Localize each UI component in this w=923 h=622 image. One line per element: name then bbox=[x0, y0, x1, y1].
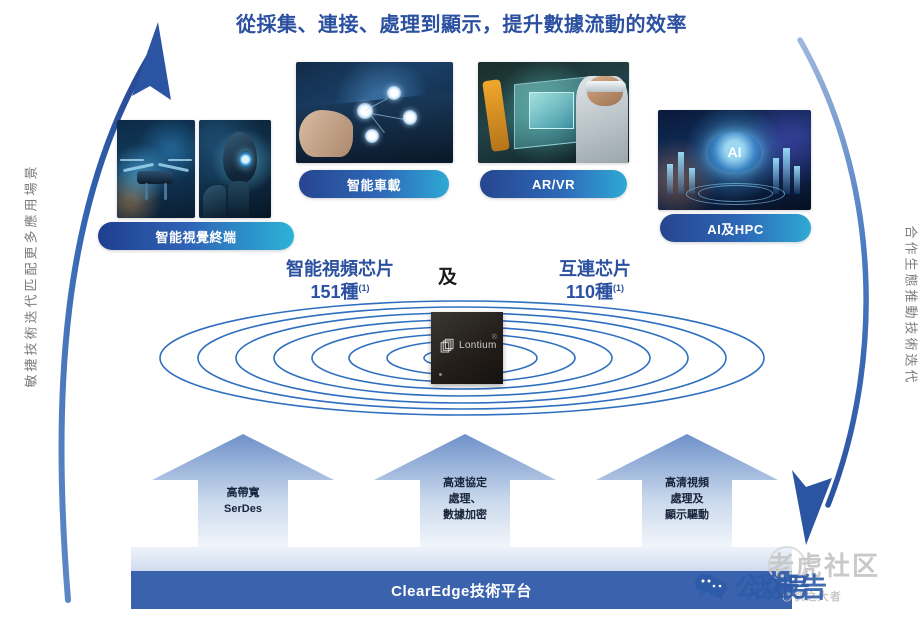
capability-label: 高速協定 處理、 數據加密 bbox=[372, 476, 558, 524]
chip-brand-label: Lontium bbox=[459, 340, 497, 351]
drone-photo bbox=[117, 120, 195, 218]
scenario-pill-vision-terminal[interactable]: 智能視覺終端 bbox=[98, 222, 294, 250]
scenario-pill-label: AI及HPC bbox=[707, 219, 763, 238]
capability-arrow-serdes: 高帶寬 SerDes bbox=[150, 432, 336, 548]
capability-label: 高帶寬 SerDes bbox=[150, 486, 336, 518]
capability-label: 高清視頻 處理及 顯示驅動 bbox=[594, 476, 780, 524]
scenario-pill-label: 智能車載 bbox=[347, 175, 401, 194]
scenario-pill-ar-vr[interactable]: AR/VR bbox=[480, 170, 627, 198]
watermark-account-name: 活报告 bbox=[746, 566, 827, 605]
scenario-pill-label: AR/VR bbox=[532, 177, 575, 192]
ai-photo-badge: AI bbox=[658, 144, 811, 160]
video-chip-name: 智能視頻芯片 bbox=[255, 258, 425, 281]
wechat-icon bbox=[694, 572, 728, 600]
platform-bar: ClearEdge技術平台 bbox=[131, 571, 792, 609]
robot-photo bbox=[199, 120, 271, 218]
right-vertical-caption: 合作生態推動技術迭代 bbox=[903, 166, 922, 446]
vr-headset-photo bbox=[478, 62, 629, 163]
ai-brain-photo: AI bbox=[658, 110, 811, 210]
slide-title: 從採集、連接、處理到顯示，提升數據流動的效率 bbox=[0, 8, 923, 37]
car-dashboard-photo bbox=[296, 62, 453, 163]
scenario-pill-ai-hpc[interactable]: AI及HPC bbox=[660, 214, 811, 242]
conjunction-label: 及 bbox=[438, 262, 457, 289]
left-vertical-caption: 敏捷技術迭代匹配更多應用場景 bbox=[21, 136, 40, 416]
video-chip-footnote: (1) bbox=[359, 283, 370, 293]
lontium-chip-device: Lontium ® bbox=[431, 312, 503, 384]
platform-label: ClearEdge技術平台 bbox=[391, 580, 532, 601]
scenario-pill-smart-auto[interactable]: 智能車載 bbox=[299, 170, 449, 198]
interconnect-chip-name: 互連芯片 bbox=[515, 258, 675, 281]
slide-canvas: 從採集、連接、處理到顯示，提升數據流動的效率 敏捷技術迭代匹配更多應用場景 合作… bbox=[0, 0, 923, 622]
platform-top-band bbox=[131, 547, 792, 571]
chip-pin1-dot bbox=[439, 373, 442, 376]
chip-registered-mark: ® bbox=[492, 334, 497, 341]
interconnect-chip-footnote: (1) bbox=[613, 283, 624, 293]
capability-arrow-protocol: 高速協定 處理、 數據加密 bbox=[372, 432, 558, 548]
lontium-square-logo-icon bbox=[439, 338, 456, 355]
scenario-pill-label: 智能視覺終端 bbox=[155, 227, 236, 246]
capability-arrow-video: 高清視頻 處理及 顯示驅動 bbox=[594, 432, 780, 548]
